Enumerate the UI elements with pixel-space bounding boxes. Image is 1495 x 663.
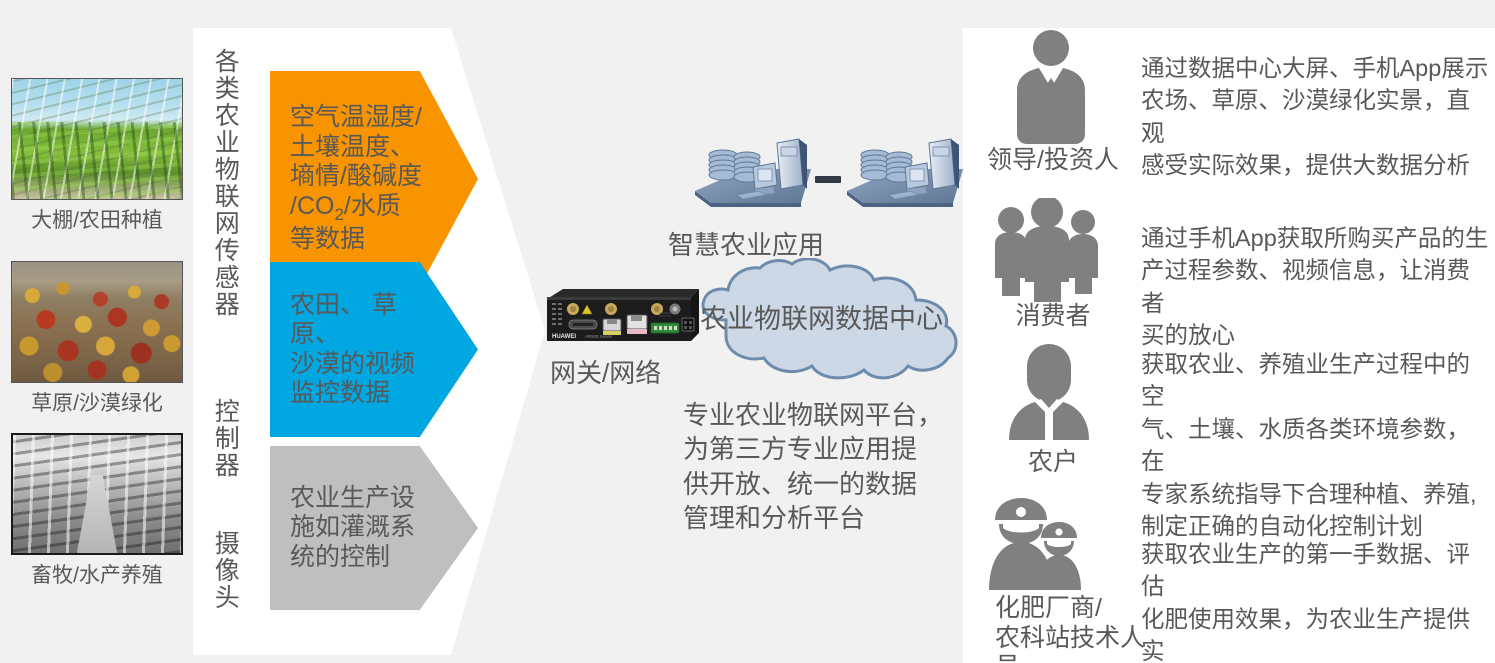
stakeholder-panel: 领导/投资人 通过数据中心大屏、手机App展示 农场、草原、沙漠绿化实景，直观 … bbox=[963, 28, 1495, 663]
diagram-canvas: 大棚/农田种植 草原/沙漠绿化 畜牧/水产养殖 各类农业物联网传感器 控制器 摄… bbox=[0, 0, 1495, 663]
role-desc-leader-investor: 通过数据中心大屏、手机App展示 农场、草原、沙漠绿化实景，直观 感受实际效果，… bbox=[1141, 52, 1491, 182]
role-row-consumer: 消费者 通过手机App获取所购买产品的生 产过程参数、视频信息，让消费者 买的放… bbox=[963, 198, 1495, 353]
chevron-video-data-label: 农田、 草原、沙漠的视频监控数据 bbox=[290, 291, 432, 409]
servers-caption: 智慧农业应用 bbox=[668, 225, 948, 262]
smart-agriculture-servers bbox=[693, 133, 963, 223]
photo-card-greenhouse: 大棚/农田种植 bbox=[11, 78, 183, 234]
people-group-icon bbox=[987, 198, 1107, 306]
photo-card-grassland: 草原/沙漠绿化 bbox=[11, 261, 183, 417]
vertical-label-camera: 摄像头 bbox=[212, 530, 238, 611]
svg-text:AR500 Series: AR500 Series bbox=[585, 334, 613, 339]
photo-caption-livestock: 畜牧/水产养殖 bbox=[11, 555, 183, 589]
grassland-desert-photo bbox=[11, 261, 183, 383]
livestock-barn-photo bbox=[11, 433, 183, 555]
middle-platform-section: 智慧农业应用 bbox=[528, 0, 963, 663]
vertical-label-controller: 控制器 bbox=[212, 398, 238, 479]
greenhouse-photo bbox=[11, 78, 183, 200]
role-label-consumer: 消费者 bbox=[963, 302, 1143, 332]
executive-person-icon bbox=[995, 28, 1107, 146]
role-desc-consumer: 通过手机App获取所购买产品的生 产过程参数、视频信息，让消费者 买的放心 bbox=[1141, 222, 1491, 352]
photo-caption-greenhouse: 大棚/农田种植 bbox=[11, 200, 183, 234]
role-row-leader-investor: 领导/投资人 通过数据中心大屏、手机App展示 农场、草原、沙漠绿化实景，直观 … bbox=[963, 28, 1495, 213]
vertical-label-sensors: 各类农业物联网传感器 bbox=[212, 48, 238, 318]
role-row-fertilizer-vendor: 化肥厂商/ 农科站技术人员 获取农业生产的第一手数据、评估 化肥使用效果，为农业… bbox=[963, 498, 1495, 663]
source-photo-column: 大棚/农田种植 草原/沙漠绿化 畜牧/水产养殖 bbox=[0, 0, 193, 663]
svg-text:HUAWEI: HUAWEI bbox=[552, 334, 576, 340]
role-label-leader-investor: 领导/投资人 bbox=[963, 146, 1143, 176]
people-group-icon-wrap bbox=[987, 198, 1099, 311]
role-desc-fertilizer-vendor: 获取农业生产的第一手数据、评估 化肥使用效果，为农业生产提供实 时、远程的技术支… bbox=[1141, 538, 1491, 663]
platform-description: 专业农业物联网平台， 为第三方专业应用提 供开放、统一的数据 管理和分析平台 bbox=[683, 398, 953, 535]
farmer-person-icon bbox=[993, 338, 1105, 448]
farmer-person-icon-wrap bbox=[993, 338, 1105, 453]
executive-person-icon-wrap bbox=[995, 28, 1107, 151]
cloud-label: 农业物联网数据中心 bbox=[700, 297, 1000, 336]
role-label-fertilizer-vendor: 化肥厂商/ 农科站技术人员 bbox=[973, 594, 1158, 663]
chevron-sensor-data-label: 空气温湿度/土壤温度、墒情/酸碱度/CO2/水质等数据 bbox=[290, 103, 422, 254]
two-workers-hardhat-icon bbox=[981, 498, 1101, 598]
router-icon: HUAWEI AR500 Series bbox=[541, 285, 701, 348]
role-label-farmer: 农户 bbox=[963, 448, 1143, 478]
gateway-router-device: HUAWEI AR500 Series bbox=[541, 285, 701, 348]
role-row-farmer: 农户 获取农业、养殖业生产过程中的空 气、土壤、水质各类环境参数，在 专家系统指… bbox=[963, 338, 1495, 523]
photo-caption-grassland: 草原/沙漠绿化 bbox=[11, 383, 183, 417]
server-pair-icon bbox=[693, 133, 963, 223]
two-workers-hardhat-icon-wrap bbox=[981, 498, 1093, 603]
photo-card-livestock: 畜牧/水产养殖 bbox=[11, 433, 183, 589]
chevron-control-data-label: 农业生产设施如灌溉系统的控制 bbox=[290, 484, 415, 573]
router-caption: 网关/网络 bbox=[550, 353, 661, 390]
